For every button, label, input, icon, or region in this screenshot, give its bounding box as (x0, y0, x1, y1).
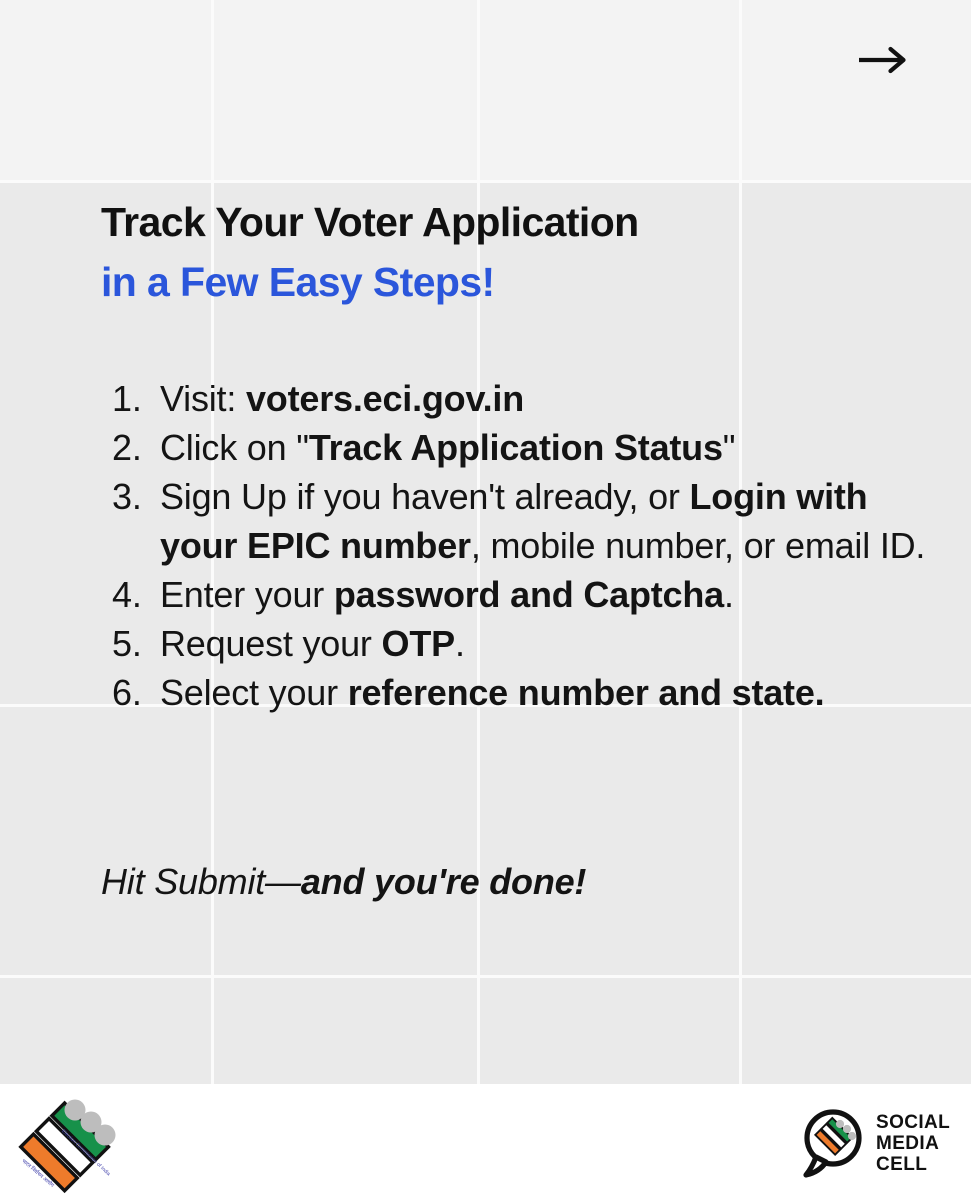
step-item: 4.Enter your password and Captcha. (112, 570, 952, 619)
step-text-emphasis: password and Captcha (334, 574, 724, 615)
step-text-plain: Request your (160, 623, 382, 664)
poster-canvas: Track Your Voter Application in a Few Ea… (0, 0, 971, 1200)
step-text-emphasis: voters.eci.gov.in (246, 378, 524, 419)
step-number: 5. (112, 619, 160, 668)
step-text: Enter your password and Captcha. (160, 570, 952, 619)
grid-line-horizontal (0, 180, 971, 183)
step-text: Sign Up if you haven't already, or Login… (160, 472, 952, 570)
speech-bubble-icon (802, 1107, 866, 1179)
step-item: 1.Visit: voters.eci.gov.in (112, 374, 952, 423)
step-number: 3. (112, 472, 160, 521)
grid-line-horizontal (0, 975, 971, 978)
step-item: 6.Select your reference number and state… (112, 668, 952, 717)
step-text: Request your OTP. (160, 619, 952, 668)
step-number: 6. (112, 668, 160, 717)
step-text-plain: Select your (160, 672, 348, 713)
step-item: 2.Click on "Track Application Status" (112, 423, 952, 472)
arrow-right-icon[interactable] (855, 40, 911, 80)
election-commission-of-india-logo: भारत निर्वाचन आयोग Election Commission o… (16, 1094, 120, 1194)
step-text-plain: , mobile number, or email ID. (471, 525, 925, 566)
step-number: 1. (112, 374, 160, 423)
step-text-plain: Enter your (160, 574, 334, 615)
smc-line-2: MEDIA (876, 1133, 950, 1154)
step-text-plain: " (723, 427, 736, 468)
step-text-plain: Click on " (160, 427, 309, 468)
step-text: Select your reference number and state. (160, 668, 952, 717)
smc-line-3: CELL (876, 1154, 950, 1175)
step-item: 3.Sign Up if you haven't already, or Log… (112, 472, 952, 570)
step-number: 2. (112, 423, 160, 472)
step-number: 4. (112, 570, 160, 619)
page-title: Track Your Voter Application in a Few Ea… (101, 192, 901, 312)
social-media-cell-logo: SOCIAL MEDIA CELL (802, 1100, 967, 1186)
step-text-plain: Sign Up if you haven't already, or (160, 476, 690, 517)
steps-list: 1.Visit: voters.eci.gov.in2.Click on "Tr… (112, 374, 952, 717)
background-top-band (0, 0, 971, 182)
closing-line-emphasis: and you're done! (301, 861, 586, 902)
step-text: Visit: voters.eci.gov.in (160, 374, 952, 423)
step-text-emphasis: reference number and state. (348, 672, 825, 713)
step-item: 5.Request your OTP. (112, 619, 952, 668)
closing-line: Hit Submit—and you're done! (101, 857, 586, 906)
step-text: Click on "Track Application Status" (160, 423, 952, 472)
step-text-plain: . (455, 623, 465, 664)
smc-line-1: SOCIAL (876, 1112, 950, 1133)
social-media-cell-label: SOCIAL MEDIA CELL (876, 1112, 950, 1175)
page-title-line-1: Track Your Voter Application (101, 192, 901, 252)
step-text-plain: Visit: (160, 378, 246, 419)
step-text-plain: . (724, 574, 734, 615)
page-title-line-2: in a Few Easy Steps! (101, 252, 901, 312)
step-text-emphasis: Track Application Status (309, 427, 723, 468)
step-text-emphasis: OTP (382, 623, 455, 664)
closing-line-normal: Hit Submit— (101, 861, 301, 902)
